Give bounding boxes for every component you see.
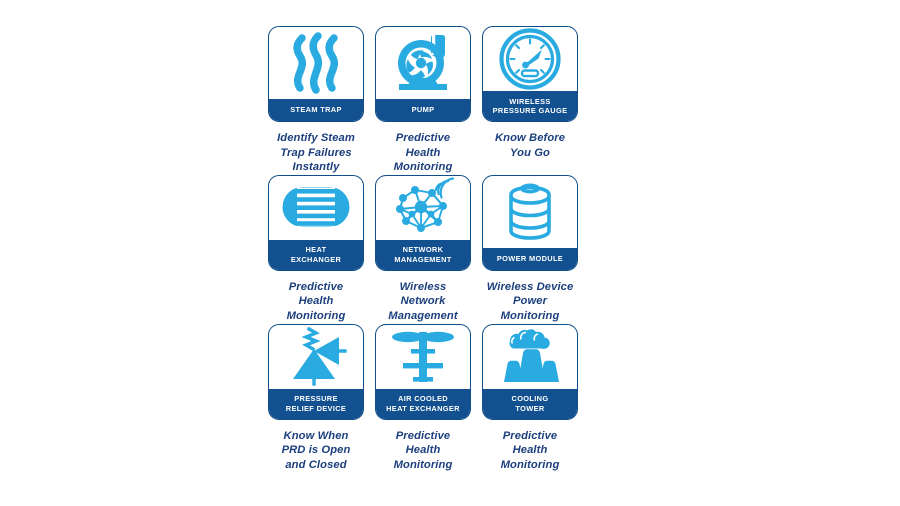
grid-cell: PRESSURE RELIEF DEVICE Know When PRD is … — [268, 324, 364, 473]
card-label-line: EXCHANGER — [291, 255, 341, 264]
asset-card-wireless-pressure-gauge[interactable]: WIRELESS PRESSURE GAUGE — [482, 26, 578, 122]
card-caption: Know When PRD is Open and Closed — [268, 429, 364, 473]
caption-line: Health — [375, 146, 471, 161]
card-label-line: COOLING — [512, 394, 549, 403]
card-caption: Predictive Health Monitoring — [268, 280, 364, 324]
cooling-tower-icon — [498, 327, 562, 385]
caption-line: Health — [482, 443, 578, 458]
caption-line: Monitoring — [482, 458, 578, 473]
caption-line: Health — [375, 443, 471, 458]
card-label-line: NETWORK — [403, 245, 444, 254]
caption-line: Monitoring — [375, 160, 471, 175]
card-label: COOLING TOWER — [483, 389, 577, 419]
card-label-line: AIR COOLED — [398, 394, 448, 403]
asset-card-heat-exchanger[interactable]: HEAT EXCHANGER — [268, 175, 364, 271]
caption-line: Management — [375, 309, 471, 324]
card-label-line: RELIEF DEVICE — [286, 404, 346, 413]
air-cooled-heat-exchanger-icon — [391, 327, 455, 385]
grid-cell: STEAM TRAP Identify Steam Trap Failures … — [268, 26, 364, 175]
card-label: WIRELESS PRESSURE GAUGE — [483, 91, 577, 121]
card-label-line: PRESSURE GAUGE — [493, 106, 568, 115]
card-label: PRESSURE RELIEF DEVICE — [269, 389, 363, 419]
caption-line: Trap Failures — [268, 146, 364, 161]
card-label-line: STEAM TRAP — [290, 105, 342, 114]
caption-line: Predictive — [375, 429, 471, 444]
card-label-line: HEAT — [306, 245, 327, 254]
card-label-line: HEAT EXCHANGER — [386, 404, 460, 413]
caption-line: You Go — [482, 146, 578, 161]
asset-card-grid: STEAM TRAP Identify Steam Trap Failures … — [268, 26, 579, 472]
caption-line: and Closed — [268, 458, 364, 473]
power-module-icon — [504, 180, 556, 242]
caption-line: Know Before — [482, 131, 578, 146]
caption-line: Predictive — [268, 280, 364, 295]
caption-line: Network — [375, 294, 471, 309]
grid-cell: POWER MODULE Wireless Device Power Monit… — [482, 175, 578, 324]
network-management-icon — [391, 176, 455, 238]
card-caption: Identify Steam Trap Failures Instantly — [268, 131, 364, 175]
icon-area — [483, 27, 577, 91]
card-caption: Wireless Device Power Monitoring — [482, 280, 578, 324]
icon-area — [269, 325, 363, 389]
grid-cell: HEAT EXCHANGER Predictive Health Monitor… — [268, 175, 364, 324]
card-label-line: MANAGEMENT — [394, 255, 451, 264]
wireless-pressure-gauge-icon — [499, 28, 561, 90]
icon-area — [483, 176, 577, 248]
grid-cell: COOLING TOWER Predictive Health Monitori… — [482, 324, 578, 473]
grid-cell: PUMP Predictive Health Monitoring — [375, 26, 471, 175]
card-label: STEAM TRAP — [269, 99, 363, 121]
icon-area — [269, 27, 363, 99]
card-label: PUMP — [376, 99, 470, 121]
caption-line: Know When — [268, 429, 364, 444]
asset-card-network-management[interactable]: NETWORK MANAGEMENT — [375, 175, 471, 271]
grid-cell: NETWORK MANAGEMENT Wireless Network Mana… — [375, 175, 471, 324]
caption-line: Wireless — [375, 280, 471, 295]
icon-area — [376, 325, 470, 389]
asset-type-grid-page: STEAM TRAP Identify Steam Trap Failures … — [0, 0, 900, 506]
card-label-line: TOWER — [515, 404, 544, 413]
card-caption: Wireless Network Management — [375, 280, 471, 324]
card-label: POWER MODULE — [483, 248, 577, 270]
caption-line: Identify Steam — [268, 131, 364, 146]
pump-icon — [392, 32, 454, 94]
asset-card-power-module[interactable]: POWER MODULE — [482, 175, 578, 271]
icon-area — [376, 27, 470, 99]
card-label-line: POWER MODULE — [497, 254, 563, 263]
card-caption: Predictive Health Monitoring — [375, 131, 471, 175]
icon-area — [269, 176, 363, 240]
asset-card-pressure-relief-device[interactable]: PRESSURE RELIEF DEVICE — [268, 324, 364, 420]
caption-line: Monitoring — [375, 458, 471, 473]
caption-line: Predictive — [375, 131, 471, 146]
asset-card-air-cooled-heat-exchanger[interactable]: AIR COOLED HEAT EXCHANGER — [375, 324, 471, 420]
caption-line: PRD is Open — [268, 443, 364, 458]
card-caption: Predictive Health Monitoring — [482, 429, 578, 473]
caption-line: Monitoring — [482, 309, 578, 324]
card-label: AIR COOLED HEAT EXCHANGER — [376, 389, 470, 419]
card-label-line: WIRELESS — [509, 97, 550, 106]
caption-line: Predictive — [482, 429, 578, 444]
card-label-line: PRESSURE — [294, 394, 337, 403]
caption-line: Instantly — [268, 160, 364, 175]
caption-line: Health — [268, 294, 364, 309]
card-caption: Predictive Health Monitoring — [375, 429, 471, 473]
caption-line: Power — [482, 294, 578, 309]
asset-card-steam-trap[interactable]: STEAM TRAP — [268, 26, 364, 122]
card-caption: Know Before You Go — [482, 131, 578, 160]
asset-card-pump[interactable]: PUMP — [375, 26, 471, 122]
caption-line: Monitoring — [268, 309, 364, 324]
asset-card-cooling-tower[interactable]: COOLING TOWER — [482, 324, 578, 420]
pressure-relief-device-icon — [285, 325, 347, 387]
card-label: HEAT EXCHANGER — [269, 240, 363, 270]
card-label: NETWORK MANAGEMENT — [376, 240, 470, 270]
icon-area — [483, 325, 577, 389]
grid-cell: AIR COOLED HEAT EXCHANGER Predictive Hea… — [375, 324, 471, 473]
grid-cell: WIRELESS PRESSURE GAUGE Know Before You … — [482, 26, 578, 175]
caption-line: Wireless Device — [482, 280, 578, 295]
steam-trap-icon — [286, 32, 346, 94]
icon-area — [376, 176, 470, 240]
heat-exchanger-icon — [281, 185, 351, 229]
card-label-line: PUMP — [412, 105, 435, 114]
